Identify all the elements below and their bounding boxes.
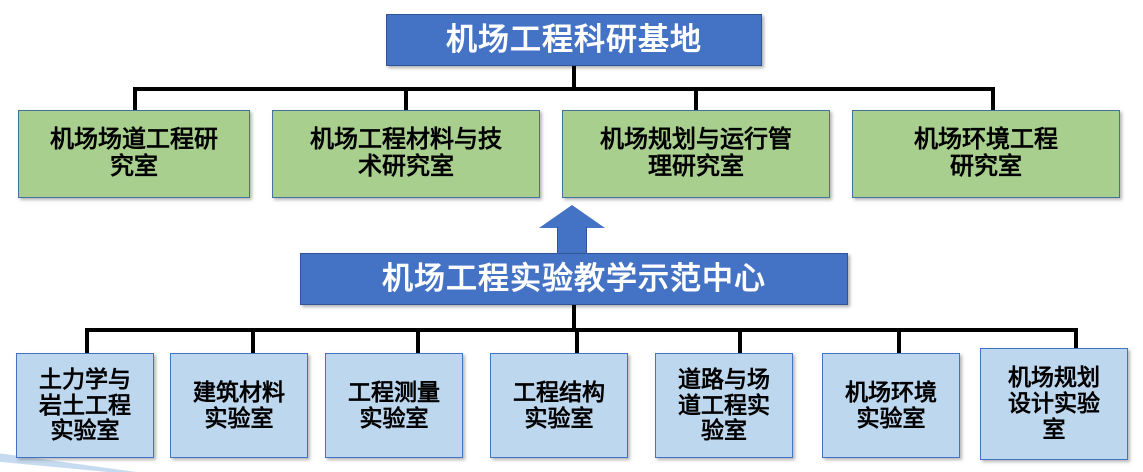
research-room-box-2[interactable]: 机场工程材料与技 术研究室 <box>272 110 540 198</box>
up-arrow-icon <box>539 205 605 255</box>
research-room-box-3[interactable]: 机场规划与运行管 理研究室 <box>562 110 830 198</box>
connector-lab-4 <box>575 328 579 355</box>
research-room-box-1[interactable]: 机场场道工程研 究室 <box>18 110 250 198</box>
lab-box-1[interactable]: 土力学与 岩土工程 实验室 <box>16 353 154 458</box>
connector-lab-5 <box>738 328 742 355</box>
lab-box-6[interactable]: 机场环境 实验室 <box>822 353 960 458</box>
org-chart-canvas: 机场工程科研基地 机场场道工程研 究室 机场工程材料与技 术研究室 机场规划与运… <box>0 0 1143 472</box>
connector-center-down <box>572 305 576 330</box>
lab-box-3[interactable]: 工程测量 实验室 <box>325 353 463 458</box>
connector-labs-bus <box>85 328 1078 332</box>
research-room-box-4[interactable]: 机场环境工程 研究室 <box>852 110 1120 198</box>
connector-lab-1 <box>85 328 89 355</box>
title-box-research-base[interactable]: 机场工程科研基地 <box>386 14 762 66</box>
lab-box-5[interactable]: 道路与场 道工程实 验室 <box>655 353 793 458</box>
connector-lab-6 <box>897 328 901 355</box>
lab-box-4[interactable]: 工程结构 实验室 <box>490 353 628 458</box>
lab-box-2[interactable]: 建筑材料 实验室 <box>170 353 308 458</box>
center-box-teaching-demo[interactable]: 机场工程实验教学示范中心 <box>300 253 848 305</box>
lab-box-7[interactable]: 机场规划 设计实验 室 <box>980 348 1128 460</box>
connector-lab-3 <box>416 328 420 355</box>
connector-lab-2 <box>251 328 255 355</box>
connector-green-bus <box>133 87 995 91</box>
